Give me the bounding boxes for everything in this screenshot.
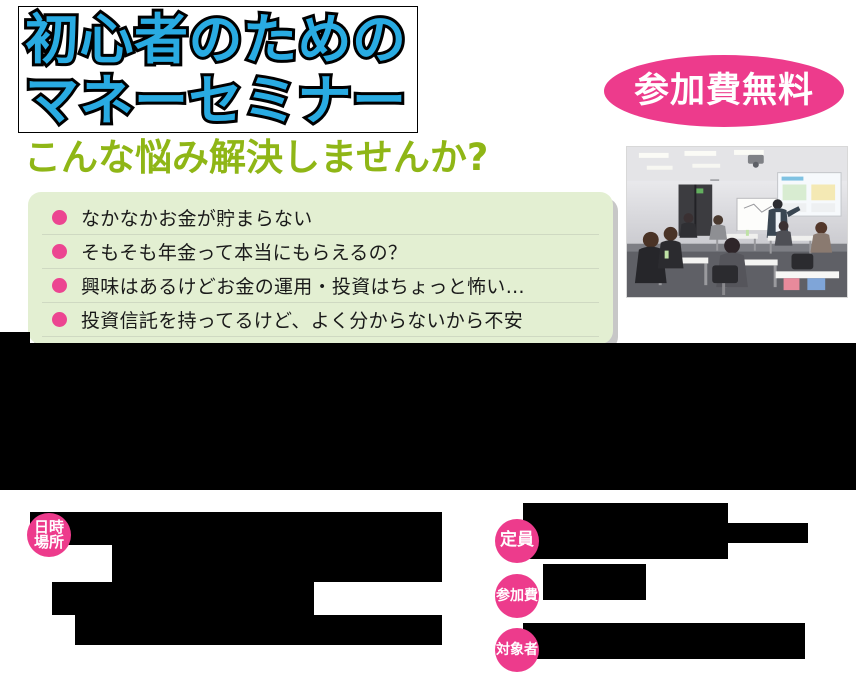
subtitle: こんな悩み解決しませんか? [24, 136, 488, 180]
place-extra-redaction [52, 582, 314, 615]
place-label: 場所 [34, 535, 64, 550]
target-value-redaction [523, 623, 805, 659]
problem-list-item: 投資信託を持ってるけど、よく分からないから不安 [42, 303, 599, 337]
fee-badge: 参加費 [495, 574, 539, 618]
capacity-value-redaction-mid [523, 523, 808, 543]
capacity-badge: 定員 [495, 519, 539, 563]
capacity-value-redaction-bottom [523, 543, 728, 559]
problem-item-label: 興味はあるけどお金の運用・投資はちょっと怖い… [81, 272, 525, 299]
bullet-dot-icon [52, 312, 67, 327]
problem-list-item: 興味はあるけどお金の運用・投資はちょっと怖い… [42, 269, 599, 303]
title-box: 初心者のための マネーセミナー [18, 6, 418, 133]
datetime-place-badge: 日時 場所 [27, 513, 71, 557]
capacity-label: 定員 [500, 532, 534, 549]
place-value-redaction [112, 545, 442, 582]
target-badge: 対象者 [495, 628, 539, 672]
title-line-2: マネーセミナー [25, 70, 419, 132]
free-participation-label: 参加費無料 [634, 74, 814, 109]
fee-label: 参加費 [496, 589, 538, 603]
problem-list-item: なかなかお金が貯まらない [42, 201, 599, 235]
problem-item-label: そもそも年金って本当にもらえるの？ [81, 238, 407, 265]
place-extra-redaction-2 [75, 615, 442, 645]
problem-list-box: なかなかお金が貯まらない そもそも年金って本当にもらえるの？ 興味はあるけどお金… [28, 192, 613, 344]
problem-item-label: 投資信託を持ってるけど、よく分からないから不安 [81, 306, 523, 333]
target-label: 対象者 [496, 643, 538, 657]
details-section: 日時 場所 定員 参加費 対象者 [0, 490, 856, 687]
bullet-dot-icon [52, 278, 67, 293]
free-participation-badge: 参加費無料 [604, 55, 844, 127]
seminar-room-illustration [627, 147, 847, 297]
seminar-room-photo [626, 146, 848, 298]
redacted-content-band [0, 343, 856, 490]
capacity-value-redaction-top [523, 503, 728, 523]
bullet-dot-icon [52, 244, 67, 259]
fee-value-redaction [543, 564, 646, 600]
problem-item-label: なかなかお金が貯まらない [81, 204, 313, 231]
bullet-dot-icon [52, 210, 67, 225]
datetime-value-redaction [30, 512, 442, 545]
seminar-flyer: 初心者のための マネーセミナー こんな悩み解決しませんか? 参加費無料 [0, 0, 856, 687]
title-line-1: 初心者のための [25, 9, 419, 71]
problem-list-item: そもそも年金って本当にもらえるの？ [42, 235, 599, 269]
